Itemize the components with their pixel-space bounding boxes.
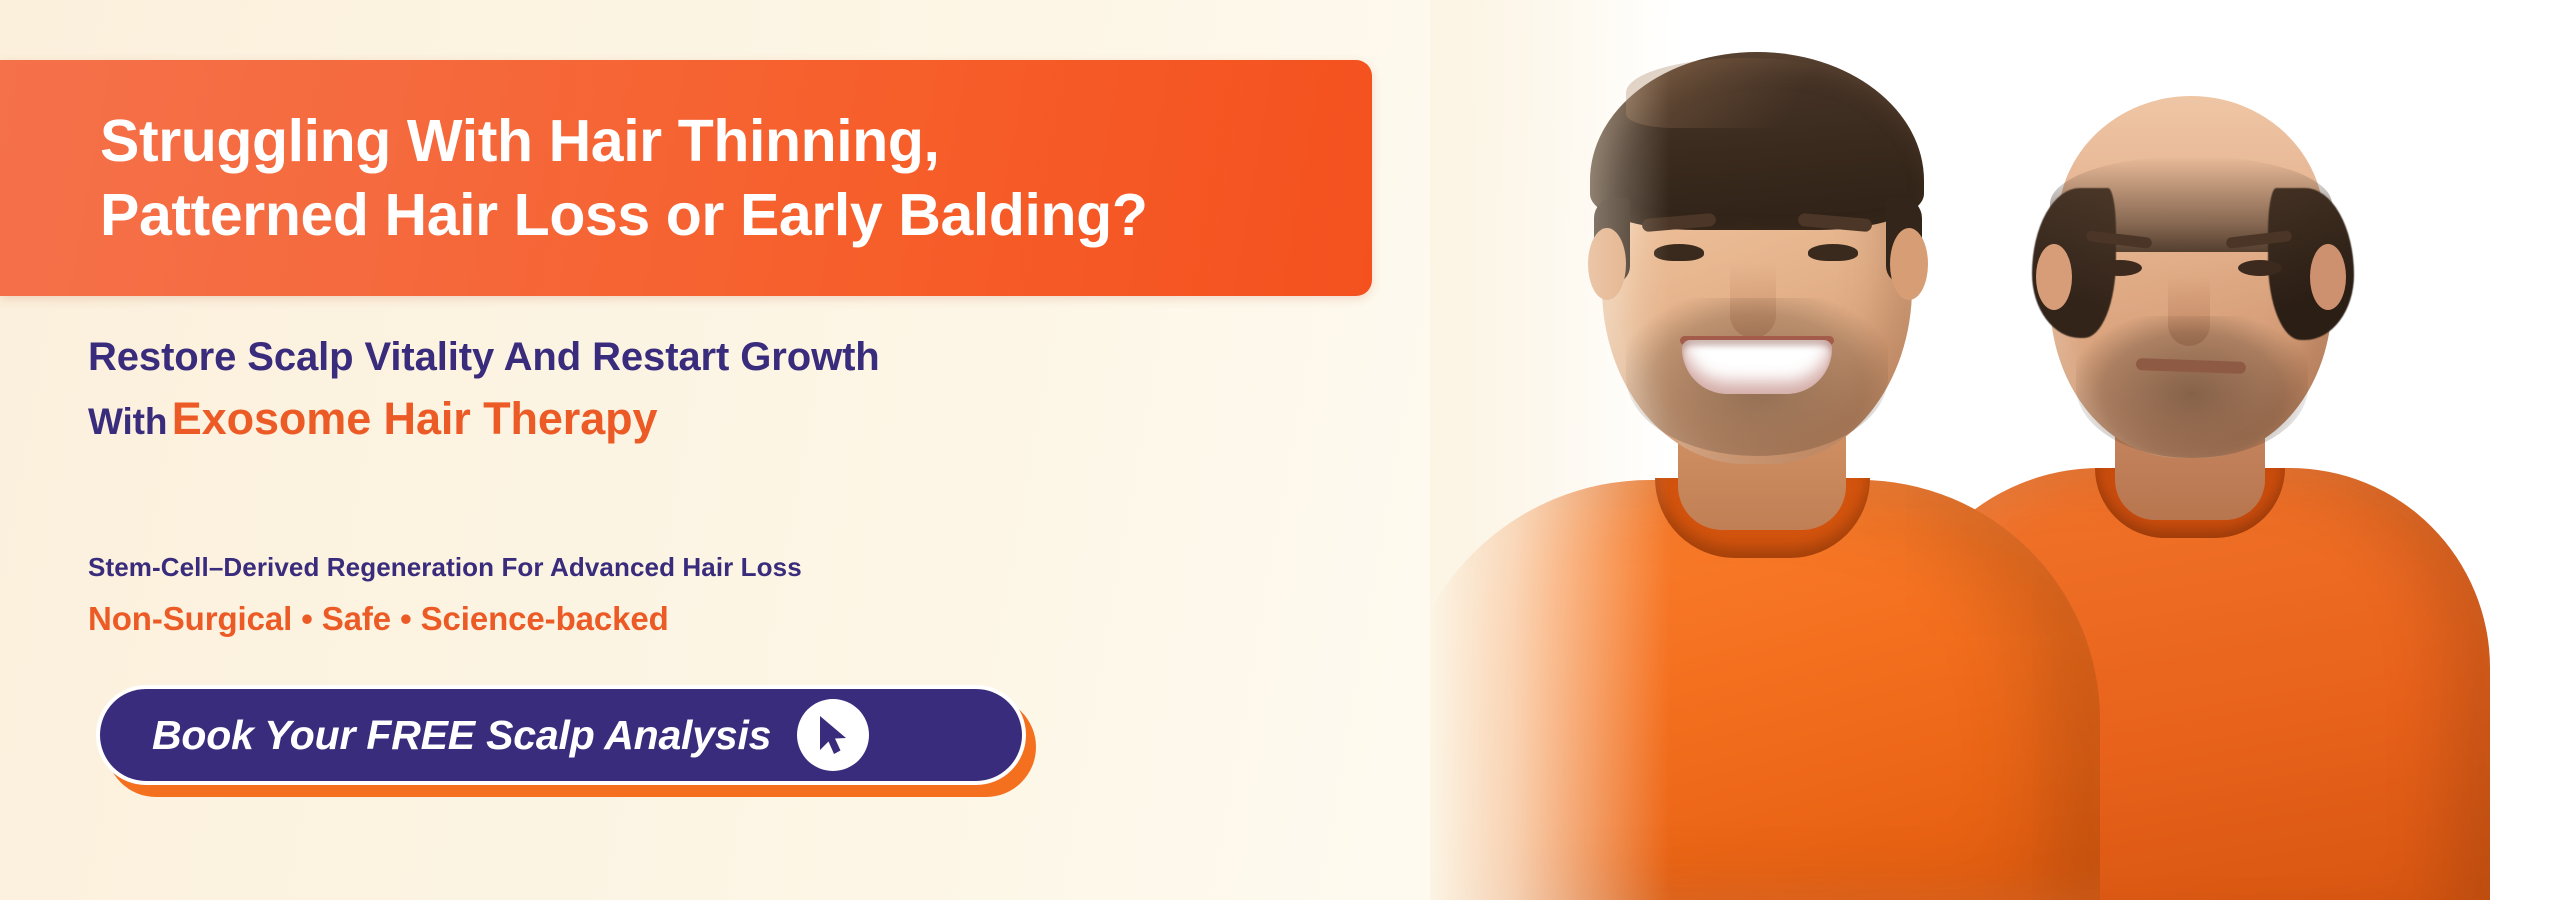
- man-with-hair-ear-left: [1588, 228, 1626, 300]
- headline-line-2: Patterned Hair Loss or Early Balding?: [100, 178, 1372, 252]
- balding-man-eye-right: [2238, 260, 2282, 276]
- cta-container: Book Your FREE Scalp Analysis: [96, 685, 1026, 785]
- cta-label: Book Your FREE Scalp Analysis: [152, 712, 771, 759]
- benefits-list: Non-Surgical • Safe • Science-backed: [88, 600, 669, 638]
- headline-line-1: Struggling With Hair Thinning,: [100, 104, 1372, 178]
- subheadline: Restore Scalp Vitality And Restart Growt…: [88, 335, 880, 380]
- balding-man-ear-right: [2310, 244, 2346, 310]
- hero-photo: [1430, 0, 2560, 900]
- man-with-hair-smile: [1682, 340, 1832, 394]
- headline-band: Struggling With Hair Thinning, Patterned…: [0, 60, 1372, 296]
- man-with-hair-hair-highlight: [1626, 58, 1866, 128]
- subheadline-secondary: With Exosome Hair Therapy: [88, 393, 657, 445]
- man-with-hair-ear-right: [1890, 228, 1928, 300]
- subheadline-prefix: With: [88, 401, 167, 442]
- man-with-hair-eye-left: [1654, 244, 1704, 261]
- man-with-hair-sideburn-left: [1594, 198, 1630, 284]
- man-with-hair-figure: [1430, 10, 2070, 900]
- book-scalp-analysis-button[interactable]: Book Your FREE Scalp Analysis: [96, 685, 1026, 785]
- balding-man-stubble: [2076, 316, 2308, 458]
- tagline: Stem-Cell–Derived Regeneration For Advan…: [88, 552, 802, 583]
- therapy-name: Exosome Hair Therapy: [172, 393, 658, 444]
- man-with-hair-eye-right: [1808, 244, 1858, 261]
- cursor-arrow-icon: [797, 699, 869, 771]
- balding-man-eye-left: [2098, 260, 2142, 276]
- hair-therapy-promo-banner: Struggling With Hair Thinning, Patterned…: [0, 0, 2560, 900]
